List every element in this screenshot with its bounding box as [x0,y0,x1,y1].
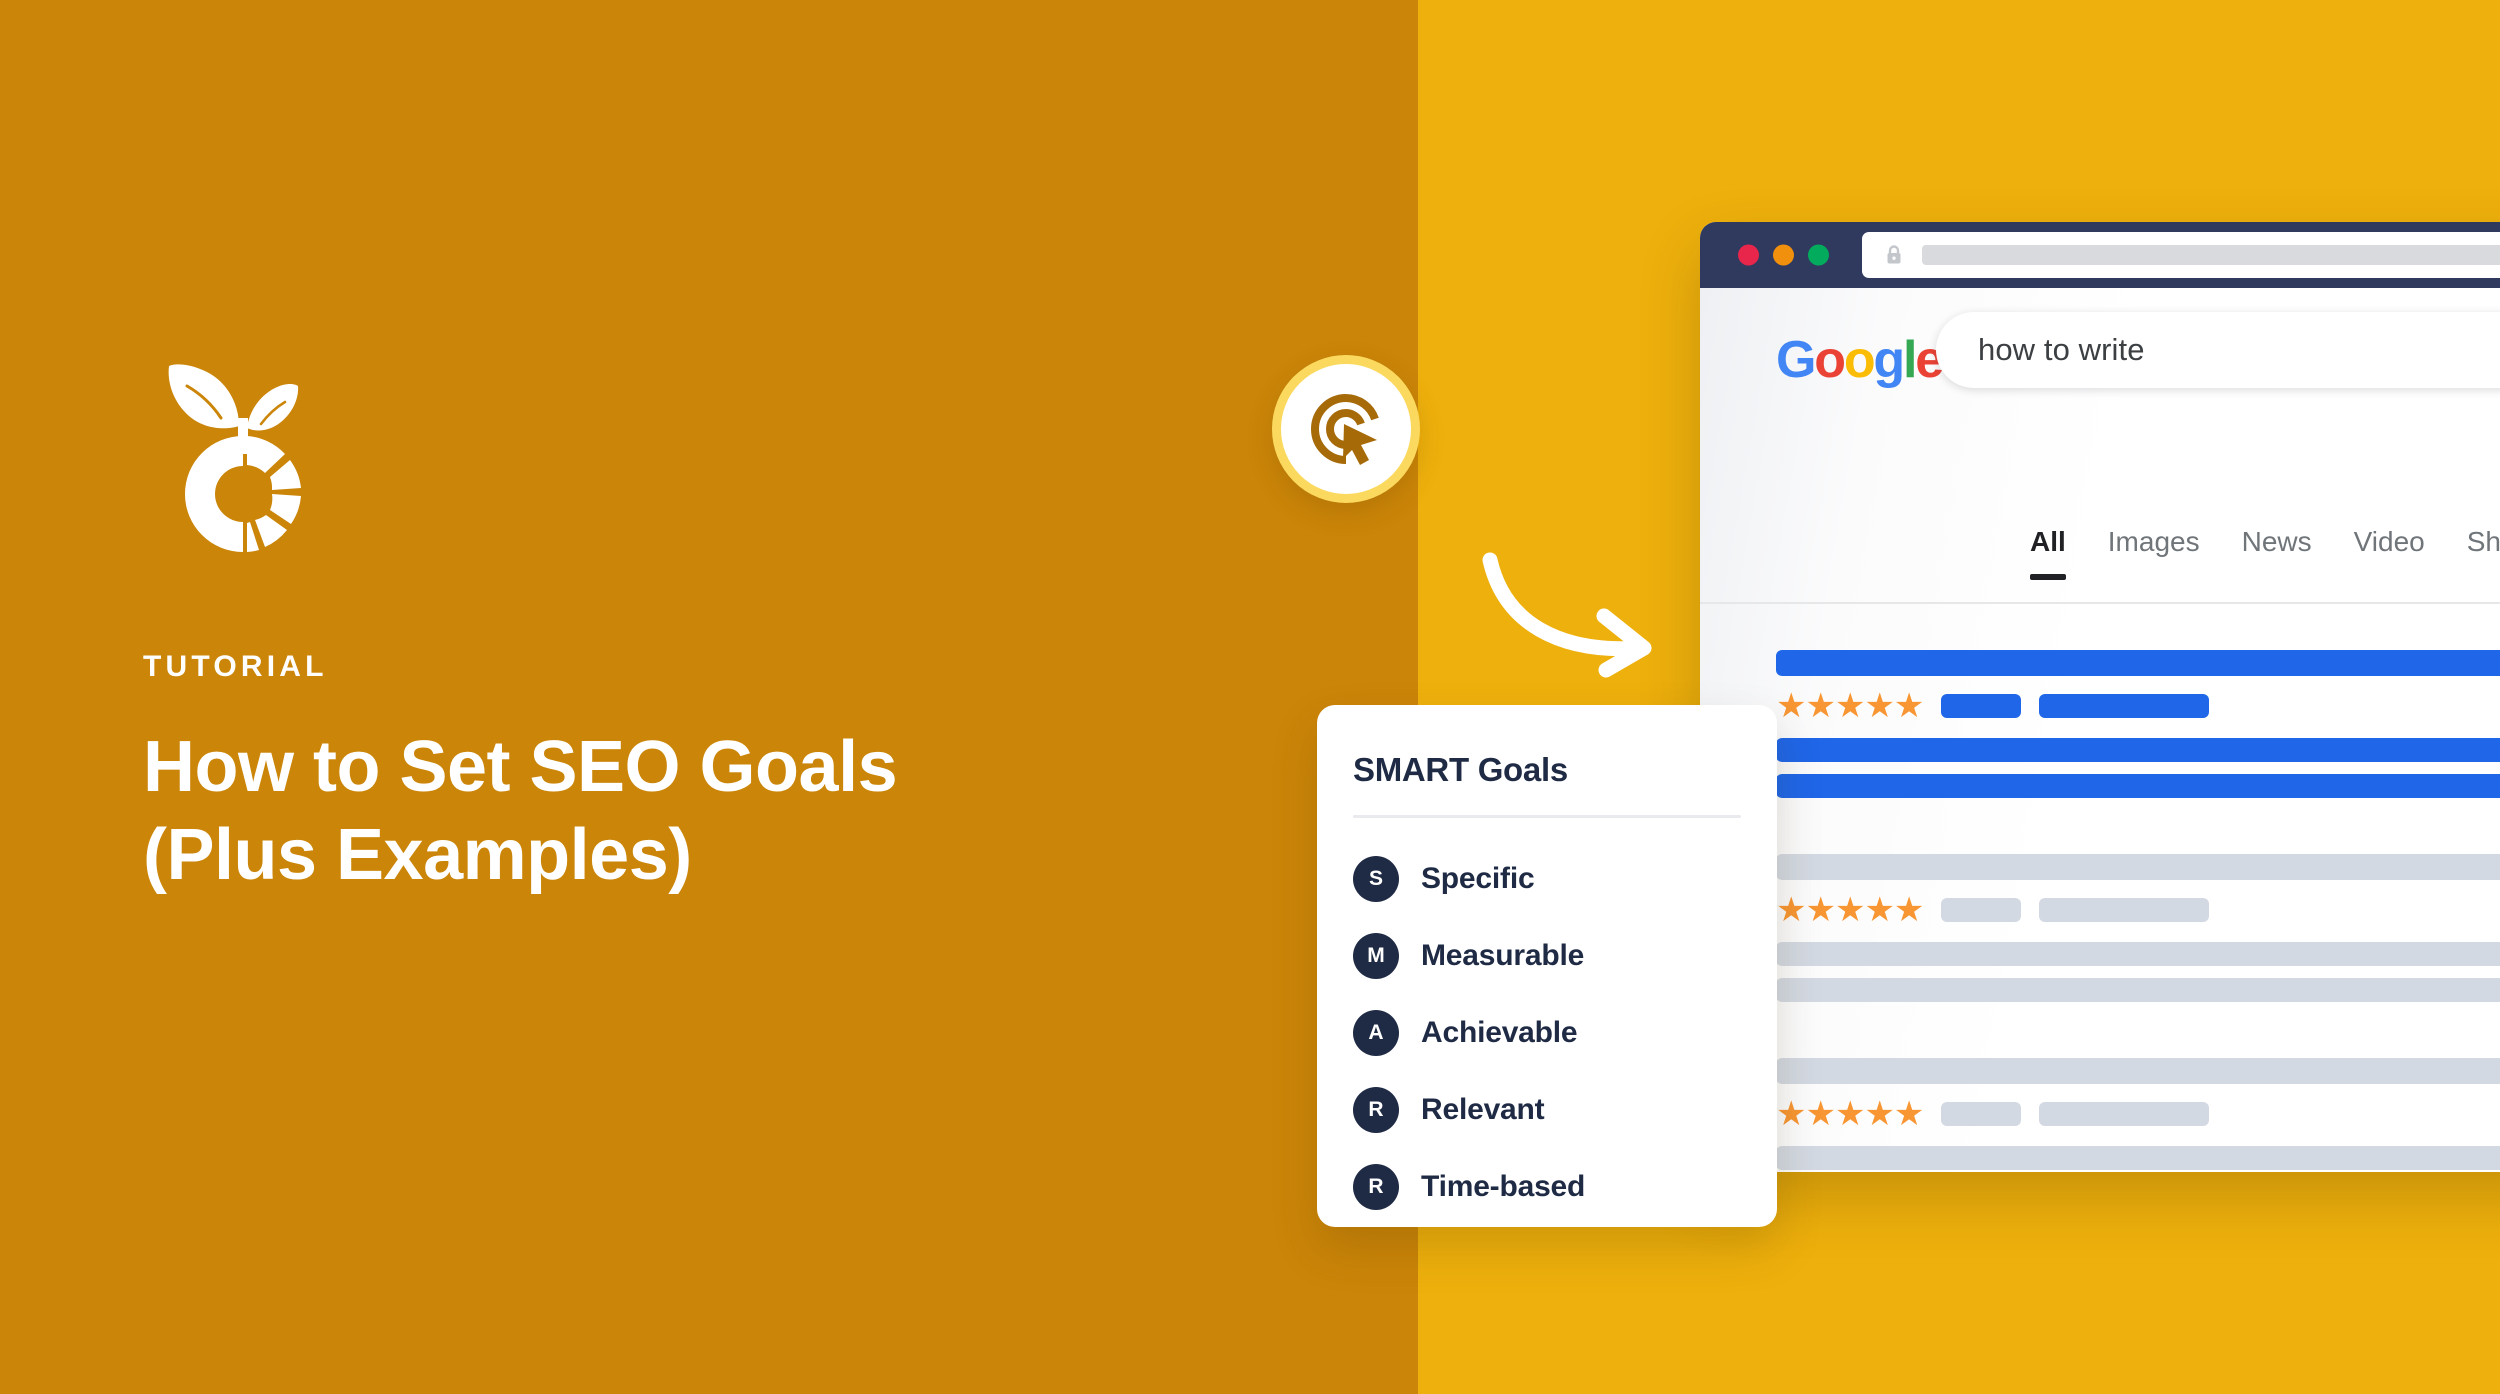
google-logo-letter-1: G [1776,331,1814,389]
google-logo-letter-5: l [1903,331,1915,389]
result-snippet [1776,942,2500,1002]
smart-badge-r: R [1353,1087,1399,1133]
result-snippet [1776,1146,2500,1172]
tab-images[interactable]: Images [2108,526,2200,580]
close-dot[interactable] [1738,245,1759,266]
result-chip-large [2039,898,2209,922]
smart-label-measurable: Measurable [1421,939,1584,973]
smart-label-relevant: Relevant [1421,1093,1544,1127]
hero-block: TUTORIAL How to Set SEO Goals (Plus Exam… [143,330,1243,900]
smart-goals-item-achievable[interactable]: A Achievable [1353,994,1777,1071]
smart-label-specific: Specific [1421,862,1534,896]
tabs-divider [1700,602,2500,604]
maximize-dot[interactable] [1808,245,1829,266]
smart-label-time-based: Time-based [1421,1170,1585,1204]
result-chip-large [2039,694,2209,718]
smart-goals-item-measurable[interactable]: M Measurable [1353,917,1777,994]
rating-stars: ★★★★★ [1776,689,1923,723]
result-chip-large [2039,1102,2209,1126]
smart-goals-item-specific[interactable]: S Specific [1353,840,1777,917]
browser-titlebar [1700,222,2500,288]
search-result-row[interactable]: ★★★★★ [1776,854,2500,1002]
search-tabs: All Images News Video Sh [2030,526,2500,580]
lock-icon [1884,244,1904,266]
result-snippet [1776,738,2500,798]
curved-arrow-icon [1480,548,1670,678]
smart-goals-item-time-based[interactable]: R Time-based [1353,1148,1777,1225]
google-header: Google how to write [1700,288,2500,470]
result-meta-row: ★★★★★ [1776,692,2500,720]
search-results-list: ★★★★★ ★★★★★ [1776,650,2500,1172]
minimize-dot[interactable] [1773,245,1794,266]
result-snippet-line [1776,1146,2500,1170]
search-result-row[interactable]: ★★★★★ [1776,1058,2500,1172]
smart-badge-a: A [1353,1010,1399,1056]
result-title-bar [1776,650,2500,676]
tab-video[interactable]: Video [2354,526,2425,580]
result-snippet-line [1776,738,2500,762]
smart-badge-s: S [1353,856,1399,902]
search-result-row[interactable]: ★★★★★ [1776,650,2500,798]
result-snippet-line [1776,774,2500,798]
rating-stars: ★★★★★ [1776,1097,1923,1131]
semrush-orange-logo [143,330,343,560]
poster-canvas: TUTORIAL How to Set SEO Goals (Plus Exam… [0,0,2500,1394]
page-title: How to Set SEO Goals (Plus Examples) [143,724,1143,900]
click-target-cursor-icon [1307,390,1385,468]
result-title-bar [1776,1058,2500,1084]
tab-news[interactable]: News [2242,526,2312,580]
result-meta-row: ★★★★★ [1776,1100,2500,1128]
address-bar[interactable] [1862,232,2500,278]
page-title-line-1: How to Set SEO Goals [143,724,1143,812]
result-title-bar [1776,854,2500,880]
browser-viewport: Google how to write All Images News Vide… [1700,288,2500,1172]
smart-goals-list: S Specific M Measurable A Achievable R R… [1353,840,1777,1225]
search-input[interactable]: how to write [1936,312,2500,388]
google-logo-letter-2: o [1814,331,1844,389]
window-controls [1738,245,1829,266]
smart-goals-divider [1353,815,1741,818]
browser-window: Google how to write All Images News Vide… [1700,222,2500,1172]
google-logo-letter-3: o [1844,331,1874,389]
page-title-line-2: (Plus Examples) [143,812,1143,900]
result-chip-small [1941,1102,2021,1126]
result-chip-small [1941,898,2021,922]
result-meta-row: ★★★★★ [1776,896,2500,924]
smart-goals-title: SMART Goals [1353,751,1777,789]
eyebrow-label: TUTORIAL [143,652,1243,682]
result-chip-small [1941,694,2021,718]
smart-label-achievable: Achievable [1421,1016,1577,1050]
google-logo: Google [1776,334,1942,386]
google-logo-letter-4: g [1873,331,1903,389]
smart-goals-item-relevant[interactable]: R Relevant [1353,1071,1777,1148]
smart-badge-t: R [1353,1164,1399,1210]
search-query-text: how to write [1978,332,2145,368]
smart-goals-card: SMART Goals S Specific M Measurable A Ac… [1317,705,1777,1227]
tab-all[interactable]: All [2030,526,2066,580]
click-target-badge [1272,355,1420,503]
result-snippet-line [1776,978,2500,1002]
tab-shopping[interactable]: Sh [2467,526,2500,580]
url-placeholder-bar [1922,245,2500,265]
smart-badge-m: M [1353,933,1399,979]
rating-stars: ★★★★★ [1776,893,1923,927]
result-snippet-line [1776,942,2500,966]
